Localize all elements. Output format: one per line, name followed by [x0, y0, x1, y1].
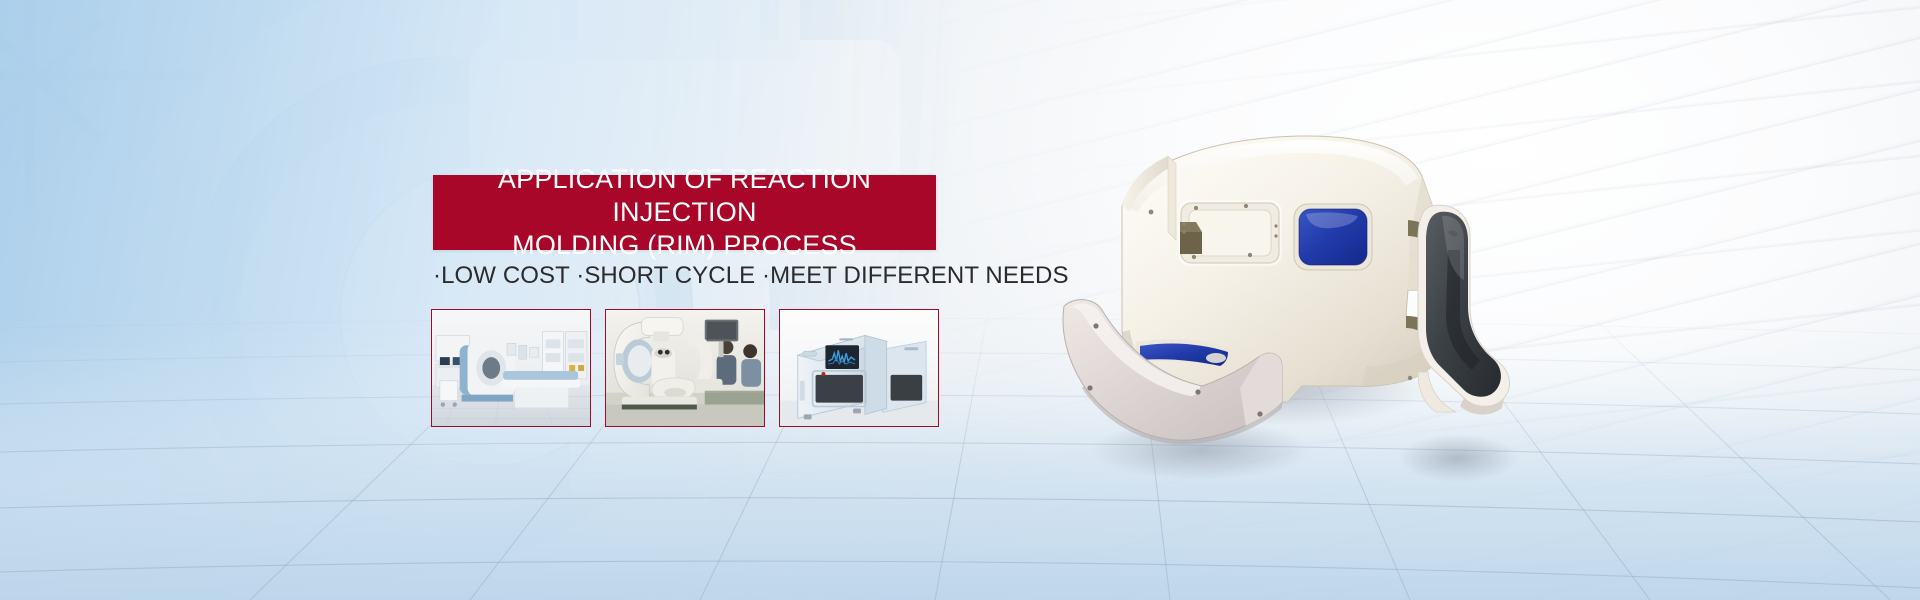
subtitle-features: ·LOW COST ·SHORT CYCLE ·MEET DIFFERENT N… [433, 262, 953, 290]
title-line-2: MOLDING (RIM) PROCESS [512, 230, 857, 260]
promo-banner: APPLICATION OF REACTION INJECTION MOLDIN… [0, 0, 1920, 600]
blue-panel-inset [1294, 204, 1372, 270]
product-photo-rim-molded-parts [1050, 120, 1530, 520]
page-title: APPLICATION OF REACTION INJECTION MOLDIN… [433, 163, 936, 262]
y-bracket-arm [1418, 205, 1510, 414]
title-band: APPLICATION OF REACTION INJECTION MOLDIN… [433, 175, 936, 250]
background-perspective-floor [0, 300, 1920, 600]
title-line-1: APPLICATION OF REACTION INJECTION [498, 164, 871, 227]
thumbnail-strip [431, 309, 939, 427]
thumbnail-laboratory-analyzer[interactable] [779, 309, 939, 427]
thumbnail-c-arm-imaging-system[interactable] [605, 309, 765, 427]
thumbnail-ct-scanner-room[interactable] [431, 309, 591, 427]
rectangular-recess [1178, 200, 1282, 266]
